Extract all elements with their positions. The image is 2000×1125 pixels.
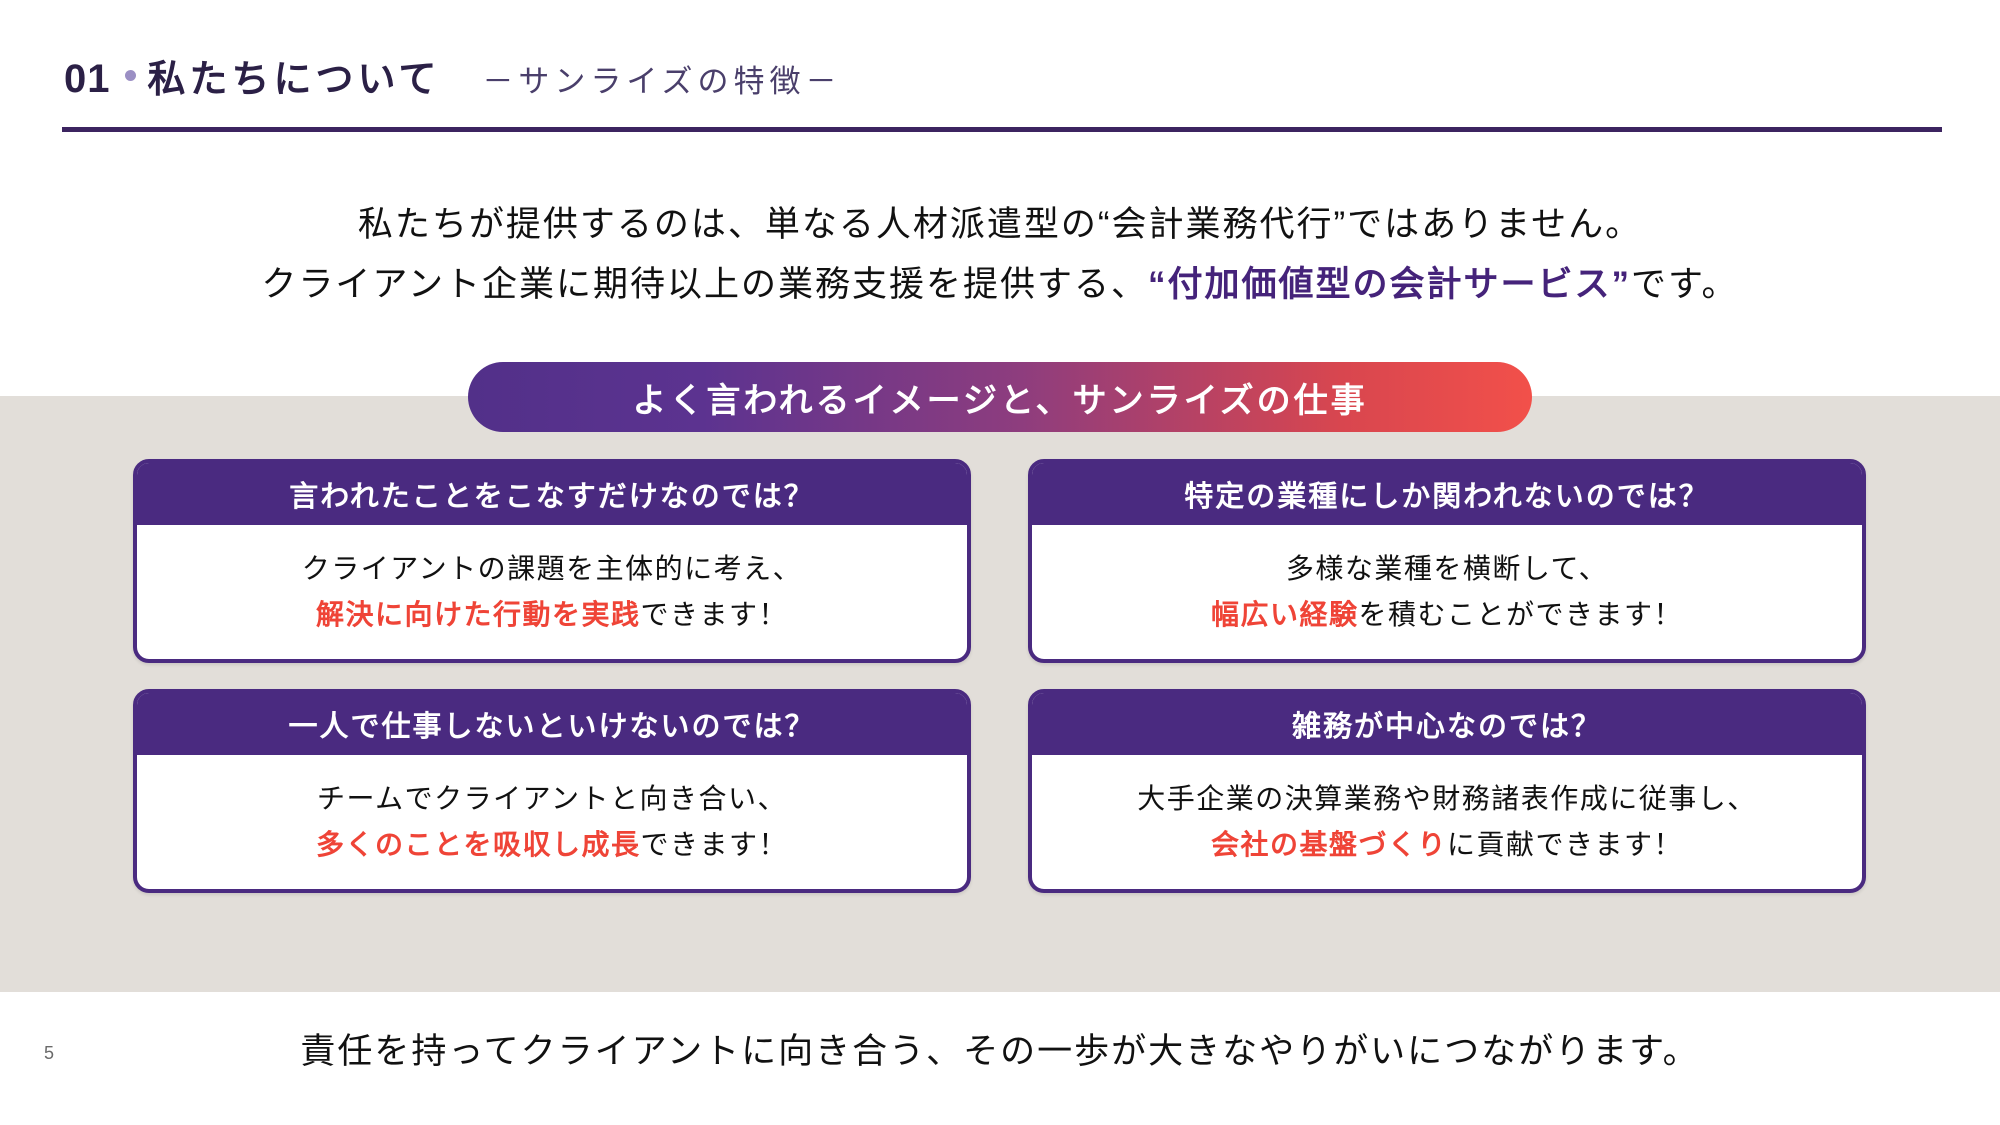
intro-line-2-accent: “付加価値型の会計サービス” [1148, 265, 1631, 304]
card-body-line-2: 幅広い経験を積むことができます！ [1211, 592, 1683, 638]
intro-paragraph: 私たちが提供するのは、単なる人材派遣型の“会計業務代行”ではありません。 クライ… [0, 195, 2000, 315]
intro-line-1: 私たちが提供するのは、単なる人材派遣型の“会計業務代行”ではありません。 [0, 195, 2000, 255]
card-title: 一人で仕事しないといけないのでは？ [137, 693, 967, 755]
card-title: 特定の業種にしか関われないのでは？ [1032, 463, 1862, 525]
card-body: 大手企業の決算業務や財務諸表作成に従事し、 会社の基盤づくりに貢献できます！ [1032, 755, 1862, 889]
intro-line-2-post: です。 [1631, 265, 1739, 304]
section-banner-label: よく言われるイメージと、サンライズの仕事 [632, 373, 1367, 422]
card-body-line-1: クライアントの課題を主体的に考え、 [302, 546, 802, 592]
card-body-line-2: 解決に向けた行動を実践できます！ [316, 592, 788, 638]
intro-line-2-pre: クライアント企業に期待以上の業務支援を提供する、 [261, 265, 1148, 304]
card-body-highlight: 会社の基盤づくり [1211, 829, 1447, 860]
card-body-tail: に貢献できます！ [1447, 829, 1683, 860]
footer-text: 責任を持ってクライアントに向き合う、その一歩が大きなやりがいにつながります。 [0, 1023, 2000, 1074]
intro-line-2: クライアント企業に期待以上の業務支援を提供する、“付加価値型の会計サービス”です… [0, 255, 2000, 315]
card-body-line-2: 多くのことを吸収し成長できます！ [316, 822, 788, 868]
page-number: 5 [44, 1043, 54, 1064]
card-item: 一人で仕事しないといけないのでは？ チームでクライアントと向き合い、 多くのこと… [133, 689, 971, 893]
card-body-highlight: 幅広い経験 [1211, 599, 1359, 630]
card-body-line-1: 大手企業の決算業務や財務諸表作成に従事し、 [1137, 776, 1757, 822]
card-body-highlight: 解決に向けた行動を実践 [316, 599, 641, 630]
card-item: 特定の業種にしか関われないのでは？ 多様な業種を横断して、 幅広い経験を積むこと… [1028, 459, 1866, 663]
page-title: 私たちについて [148, 48, 441, 103]
page-header: 01 私たちについて －サンライズの特徴－ [64, 48, 841, 103]
card-body-highlight: 多くのことを吸収し成長 [316, 829, 641, 860]
card-body: チームでクライアントと向き合い、 多くのことを吸収し成長できます！ [137, 755, 967, 889]
page-subtitle: －サンライズの特徴－ [482, 56, 841, 101]
section-number: 01 [64, 57, 111, 102]
card-item: 雑務が中心なのでは？ 大手企業の決算業務や財務諸表作成に従事し、 会社の基盤づく… [1028, 689, 1866, 893]
card-body: クライアントの課題を主体的に考え、 解決に向けた行動を実践できます！ [137, 525, 967, 659]
section-banner: よく言われるイメージと、サンライズの仕事 [468, 362, 1532, 432]
slide-root: 01 私たちについて －サンライズの特徴－ 私たちが提供するのは、単なる人材派遣… [0, 0, 2000, 1125]
card-title: 雑務が中心なのでは？ [1032, 693, 1862, 755]
card-body-line-2: 会社の基盤づくりに貢献できます！ [1211, 822, 1683, 868]
card-body-tail: を積むことができます！ [1359, 599, 1684, 630]
cards-grid: 言われたことをこなすだけなのでは？ クライアントの課題を主体的に考え、 解決に向… [133, 459, 1866, 893]
bullet-dot-icon [125, 70, 136, 81]
card-body-tail: できます！ [641, 599, 789, 630]
card-body-tail: できます！ [641, 829, 789, 860]
card-body-line-1: チームでクライアントと向き合い、 [317, 776, 787, 822]
card-item: 言われたことをこなすだけなのでは？ クライアントの課題を主体的に考え、 解決に向… [133, 459, 971, 663]
card-body-line-1: 多様な業種を横断して、 [1286, 546, 1608, 592]
card-body: 多様な業種を横断して、 幅広い経験を積むことができます！ [1032, 525, 1862, 659]
header-divider [62, 127, 1942, 132]
card-title: 言われたことをこなすだけなのでは？ [137, 463, 967, 525]
